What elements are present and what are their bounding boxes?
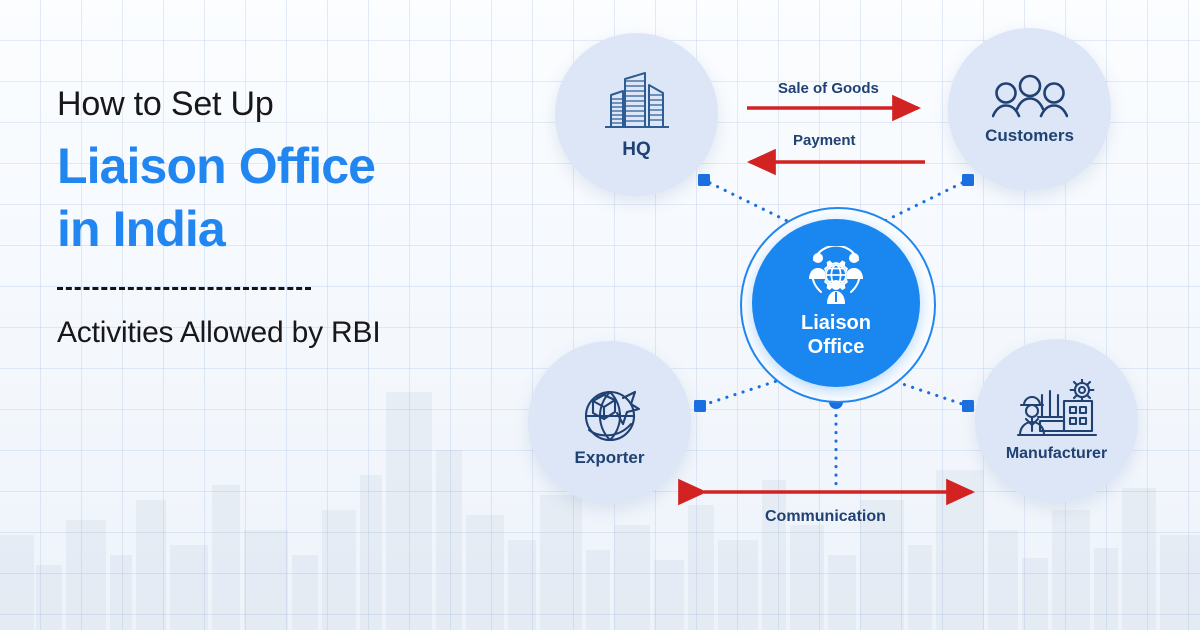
headline-highlight-line2: in India bbox=[57, 198, 497, 261]
node-manufacturer[interactable]: Manufacturer bbox=[975, 339, 1138, 502]
people-globe-gear-icon bbox=[804, 246, 868, 306]
node-label-manufacturer: Manufacturer bbox=[1006, 445, 1107, 463]
flow-label-communication: Communication bbox=[765, 508, 886, 526]
hub-label: Liaison Office bbox=[801, 312, 871, 359]
node-label-customers: Customers bbox=[985, 126, 1074, 146]
flow-label-payment: Payment bbox=[793, 132, 856, 149]
node-customers[interactable]: Customers bbox=[948, 28, 1111, 191]
hub-label-line1: Liaison bbox=[801, 312, 871, 334]
node-label-hq: HQ bbox=[622, 139, 651, 161]
headline-block: How to Set Up Liaison Office in India Ac… bbox=[57, 86, 497, 350]
liaison-office-diagram: Sale of Goods Payment Communication HQ bbox=[500, 0, 1200, 630]
node-label-exporter: Exporter bbox=[575, 448, 645, 468]
headline-subtitle: Activities Allowed by RBI bbox=[57, 316, 497, 350]
flow-label-sale-of-goods: Sale of Goods bbox=[778, 80, 879, 97]
globe-plane-package-icon bbox=[573, 378, 647, 446]
headline-highlight-line1: Liaison Office bbox=[57, 135, 497, 198]
node-liaison-office[interactable]: Liaison Office bbox=[752, 219, 920, 387]
factory-worker-gear-icon bbox=[1016, 379, 1098, 443]
dashed-divider bbox=[57, 287, 311, 290]
office-buildings-icon bbox=[601, 69, 673, 135]
node-exporter[interactable]: Exporter bbox=[528, 341, 691, 504]
hub-label-line2: Office bbox=[808, 336, 865, 358]
infographic-canvas: How to Set Up Liaison Office in India Ac… bbox=[0, 0, 1200, 630]
people-group-icon bbox=[992, 73, 1068, 125]
node-hq[interactable]: HQ bbox=[555, 33, 718, 196]
headline-line1: How to Set Up bbox=[57, 86, 497, 123]
